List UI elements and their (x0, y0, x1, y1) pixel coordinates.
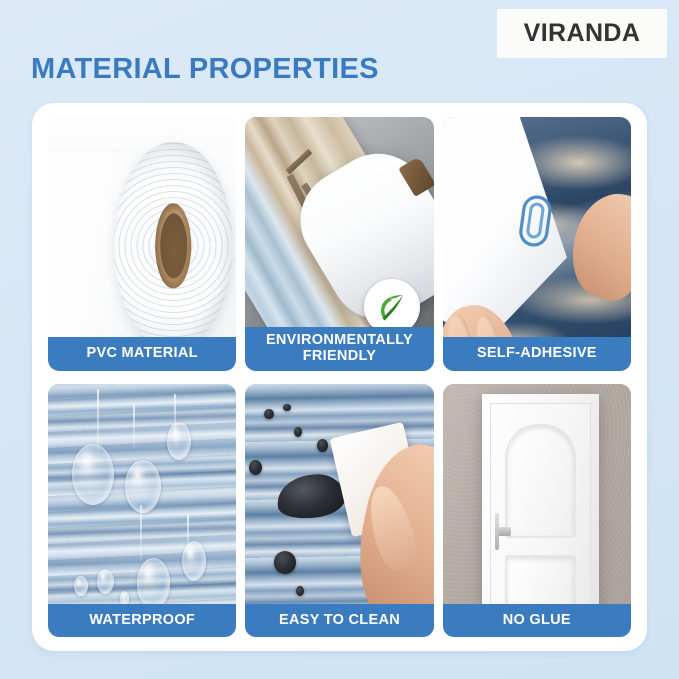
pvc-roll-shape (114, 142, 233, 350)
page-title: MATERIAL PROPERTIES (31, 53, 379, 86)
brand-logo-box: VIRANDA (497, 9, 667, 58)
feature-label-line-2: FRIENDLY (249, 348, 429, 364)
drop-trail (133, 404, 135, 450)
brand-name: VIRANDA (524, 19, 641, 48)
water-droplet (167, 422, 191, 460)
no-glue-image (443, 384, 631, 638)
drop-trail (140, 505, 142, 561)
self-adhesive-image (443, 117, 631, 371)
door-frame-shape (482, 394, 599, 627)
feature-card-easy-to-clean[interactable]: EASY TO CLEAN (245, 384, 433, 638)
feature-label-line-1: ENVIRONMENTALLY (249, 332, 429, 348)
water-droplet (137, 558, 171, 609)
feature-label-environmentally-friendly: ENVIRONMENTALLY FRIENDLY (245, 327, 433, 370)
feature-label-no-glue: NO GLUE (443, 604, 631, 637)
waterproof-image (48, 384, 236, 638)
door-top-panel (505, 424, 576, 538)
water-droplet (97, 569, 114, 594)
ink-speck (249, 460, 262, 475)
feature-card-no-glue[interactable]: NO GLUE (443, 384, 631, 638)
water-droplet (74, 576, 87, 596)
pvc-roll-image (48, 117, 236, 371)
feature-card-pvc-material[interactable]: PVC MATERIAL (48, 117, 236, 371)
ink-speck (274, 551, 297, 574)
feature-grid: PVC MATERIAL (48, 117, 631, 637)
water-droplet (125, 460, 161, 513)
door-leaf-shape (490, 403, 590, 625)
pvc-core-shape (155, 204, 191, 289)
feature-label-self-adhesive: SELF-ADHESIVE (443, 337, 631, 370)
feature-label-pvc-material: PVC MATERIAL (48, 337, 236, 370)
feature-card-environmentally-friendly[interactable]: ENVIRONMENTALLY FRIENDLY (245, 117, 433, 371)
ink-speck (317, 439, 328, 452)
feature-card-self-adhesive[interactable]: SELF-ADHESIVE (443, 117, 631, 371)
feature-label-waterproof: WATERPROOF (48, 604, 236, 637)
ink-speck (283, 404, 291, 412)
ink-speck (296, 586, 304, 596)
ink-speck (264, 409, 273, 419)
feature-card-waterproof[interactable]: WATERPROOF (48, 384, 236, 638)
water-droplet (182, 541, 206, 582)
easy-to-clean-image (245, 384, 433, 638)
feature-panel: PVC MATERIAL (32, 103, 647, 651)
feature-label-easy-to-clean: EASY TO CLEAN (245, 604, 433, 637)
door-handle-shape (495, 527, 511, 536)
water-droplet (72, 444, 113, 505)
ink-speck (294, 427, 302, 437)
